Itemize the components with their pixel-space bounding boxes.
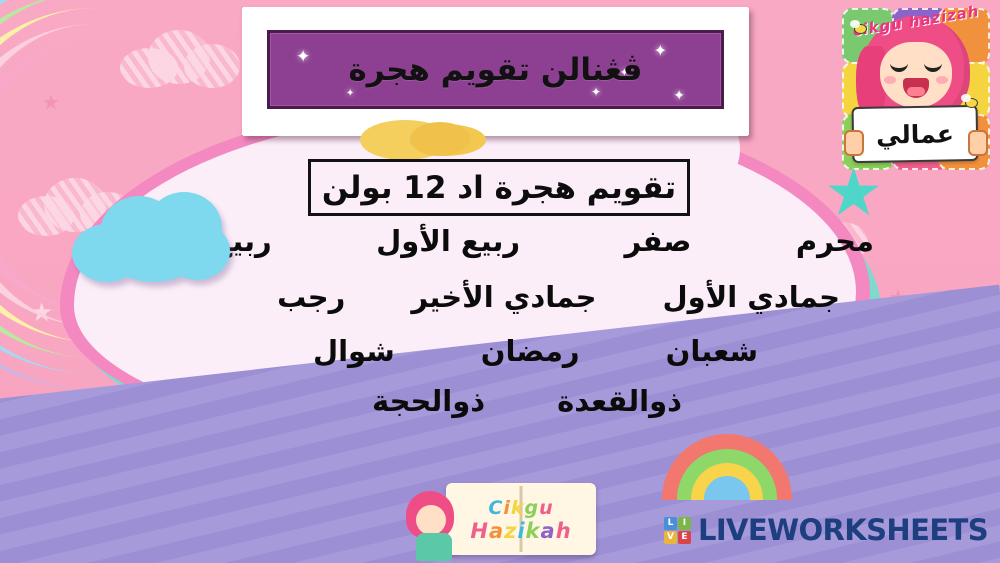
mini-teacher-avatar	[406, 491, 464, 557]
month-name: ذوالقعدة	[557, 386, 682, 416]
mini-body-shape	[416, 533, 452, 561]
bee-icon	[965, 98, 978, 108]
open-book-icon: Cikgu Hazikah	[446, 483, 596, 555]
month-row: شعبان رمضان شوال	[90, 336, 880, 386]
logo-letter-i: I	[678, 517, 691, 530]
subtitle-box: تقويم هجرة اد 12 بولن	[308, 159, 690, 216]
sparkle-icon: ✦	[673, 89, 685, 103]
eye-icon	[890, 62, 908, 72]
held-sign: عمالي	[852, 105, 979, 163]
sparkle-icon: ✦	[296, 49, 310, 66]
sparkle-icon: ✦	[654, 43, 667, 59]
liveworksheets-watermark: L I V E LIVEWORKSHEETS	[664, 513, 988, 547]
blue-cloud-decor	[72, 192, 232, 284]
brand-line-1: Cikgu	[446, 499, 596, 518]
subtitle-text: تقويم هجرة اد 12 بولن	[322, 170, 676, 206]
brand-book-logo: Cikgu Hazikah	[402, 475, 598, 561]
cheek-blush	[936, 76, 948, 84]
liveworksheets-wordmark: LIVEWORKSHEETS	[698, 513, 988, 547]
logo-letter-v: V	[664, 531, 677, 544]
bee-icon	[854, 24, 867, 34]
brand-line-2: Hazikah	[446, 521, 596, 542]
banner-title-text: ڤڠنالن تقويم هجرة	[349, 52, 643, 88]
face-shape	[880, 42, 952, 108]
sparkle-icon: ✦	[346, 89, 354, 99]
month-name: ذوالحجة	[372, 386, 485, 416]
month-row: جمادي الأول جمادي الأخير رجب	[90, 282, 880, 336]
eye-icon	[924, 62, 942, 72]
month-name: رمضان	[481, 336, 580, 366]
mouth-icon	[903, 78, 929, 98]
liveworksheets-logo-icon: L I V E	[664, 517, 691, 544]
month-name: ربيع الأول	[376, 226, 520, 256]
sparkle-icon: ✦	[314, 107, 327, 109]
title-stamp-frame: ✦ ✦ ✦ ✦ ✦ ✦ ✦ ✦ ڤڠنالن تقويم هجرة	[243, 8, 748, 135]
hand-shape	[844, 130, 864, 156]
month-name: جمادي الأخير	[411, 282, 596, 312]
month-name: جمادي الأول	[662, 282, 840, 312]
teacher-badge: ★ cikgu hazizah	[838, 2, 994, 174]
stamp-edge-right	[737, 8, 749, 135]
title-banner: ✦ ✦ ✦ ✦ ✦ ✦ ✦ ✦ ڤڠنالن تقويم هجرة	[267, 30, 724, 109]
stamp-edge-left	[242, 8, 254, 135]
yellow-blob-decor	[410, 122, 470, 156]
month-name: شعبان	[666, 336, 758, 366]
logo-letter-l: L	[664, 517, 677, 530]
month-name: شوال	[313, 336, 395, 366]
cheek-blush	[884, 76, 896, 84]
mini-face-shape	[416, 505, 446, 535]
hand-shape	[968, 130, 988, 156]
logo-letter-e: E	[678, 531, 691, 544]
month-name: رجب	[277, 282, 345, 312]
toy-rainbow-decor	[662, 434, 792, 500]
worksheet-canvas: ★ ★ ★ ★ ★ ✦ ✦ ✦	[0, 0, 1000, 563]
held-sign-text: عمالي	[876, 119, 954, 149]
month-name: صفر	[625, 226, 692, 256]
month-row: ذوالقعدة ذوالحجة	[90, 386, 880, 432]
